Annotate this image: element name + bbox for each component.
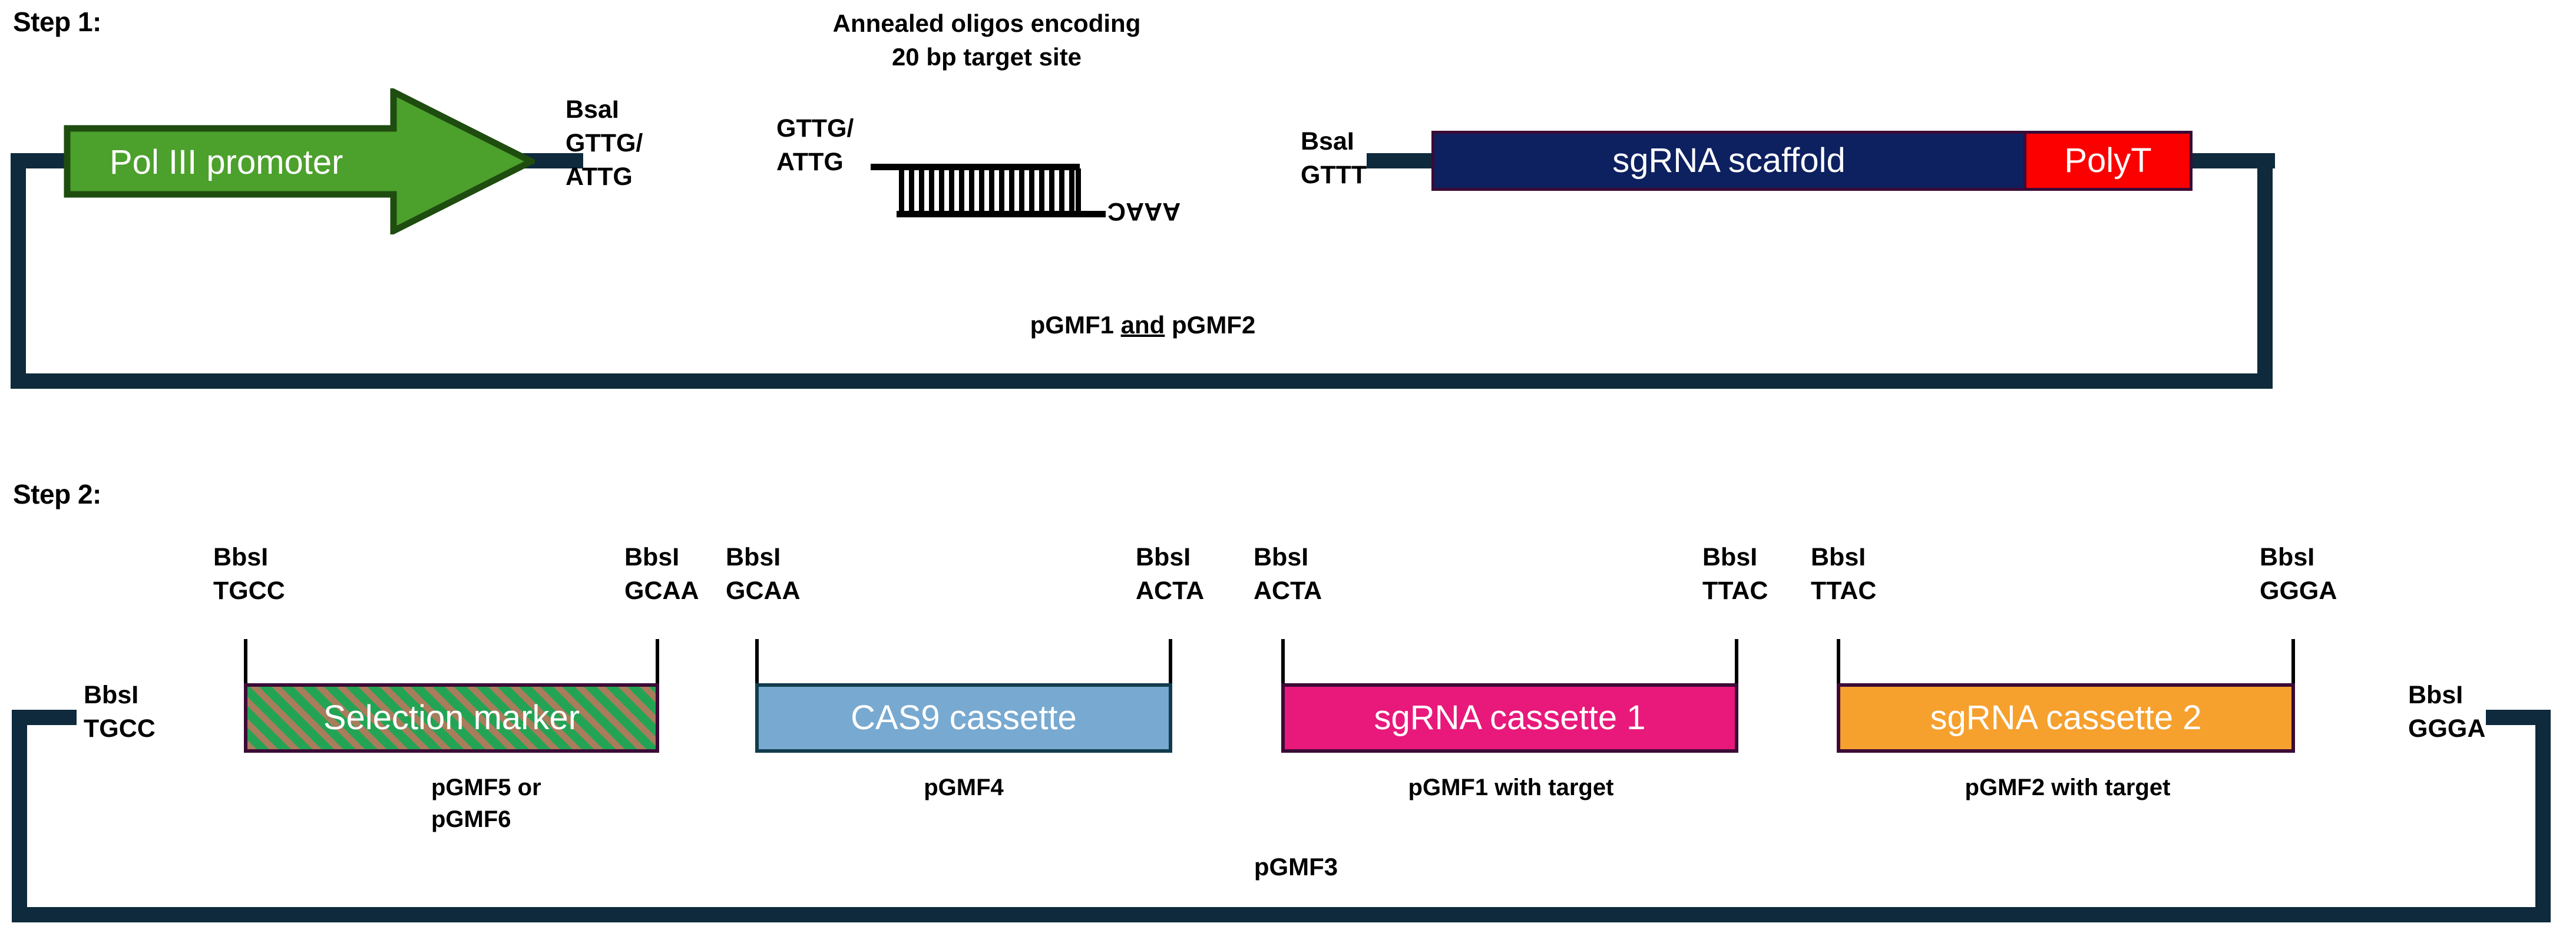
bsai-gttg-attg-site: BsaI GTTG/ ATTG [566, 93, 643, 193]
step1-backbone-right [2257, 159, 2273, 389]
step1-plasmid-name: pGMF1 and pGMF2 [907, 311, 1378, 339]
step1-plasmid-name-pre: pGMF1 [1030, 311, 1121, 339]
oligo-right-overhang: AAAC [1107, 197, 1180, 226]
sgrna-cassette-2-left-site: BbsI TTAC [1811, 541, 1876, 608]
step2-left-bbsi-site: BbsI TGCC [84, 679, 156, 746]
step-2-label: Step 2: [13, 478, 101, 510]
sgrna-cassette-1-label: sgRNA cassette 1 [1374, 701, 1646, 735]
bsai-gttt-site: BsaI GTTT [1301, 125, 1367, 192]
selection-marker-label: Selection marker [323, 701, 580, 735]
step1-backbone-bottom [11, 373, 2273, 389]
step2-backbone-left-stub [12, 710, 77, 725]
sgrna-cassette-1-caption: pGMF1 with target [1387, 772, 1635, 803]
cas9-cassette-caption: pGMF4 [846, 772, 1082, 803]
cas9-cassette-left-site: BbsI GCAA [726, 541, 801, 608]
step-1-label: Step 1: [13, 6, 101, 38]
step2-plasmid-name: pGMF3 [1178, 853, 1414, 881]
selection-marker-box[interactable]: Selection marker [244, 683, 659, 753]
cas9-cassette-box[interactable]: CAS9 cassette [755, 683, 1172, 753]
polyt-label: PolyT [2064, 144, 2151, 178]
annealed-oligos-title: Annealed oligos encoding 20 bp target si… [813, 7, 1160, 74]
step2-backbone-bottom [12, 907, 2551, 922]
cas9-cassette-label: CAS9 cassette [851, 701, 1077, 735]
selection-marker-left-site: BbsI TGCC [213, 541, 285, 608]
sgrna-cassette-1-left-site: BbsI ACTA [1254, 541, 1322, 608]
sgrna-cassette-1-box[interactable]: sgRNA cassette 1 [1281, 683, 1738, 753]
step2-backbone-right [2535, 710, 2551, 922]
step1-stub-after-polyt [2193, 153, 2275, 168]
pol3-promoter-arrow[interactable]: Pol III promoter [64, 88, 535, 234]
sgrna-cassette-1-right-site: BbsI TTAC [1702, 541, 1768, 608]
polyt-box[interactable]: PolyT [2026, 131, 2193, 191]
sgrna-cassette-2-box[interactable]: sgRNA cassette 2 [1837, 683, 2295, 753]
step1-backbone-left [11, 153, 26, 389]
step1-plasmid-name-post: pGMF2 [1165, 311, 1255, 339]
cas9-cassette-right-site: BbsI ACTA [1136, 541, 1204, 608]
sgrna-cassette-2-right-site: BbsI GGGA [2260, 541, 2337, 608]
selection-marker-caption: pGMF5 or pGMF6 [431, 772, 541, 835]
selection-marker-right-site: BbsI GCAA [624, 541, 699, 608]
step1-plasmid-name-and: and [1121, 311, 1165, 339]
sgrna-cassette-2-caption: pGMF2 with target [1944, 772, 2191, 803]
sgrna-scaffold-box[interactable]: sgRNA scaffold [1431, 131, 2026, 191]
step2-right-bbsi-site: BbsI GGGA [2408, 679, 2485, 746]
sgrna-cassette-2-label: sgRNA cassette 2 [1930, 701, 2202, 735]
step2-backbone-left [12, 710, 27, 922]
oligo-left-overhang: GTTG/ ATTG [776, 112, 854, 179]
pol3-promoter-label: Pol III promoter [110, 143, 343, 182]
step1-stub-before-scaffold [1367, 153, 1431, 168]
sgrna-scaffold-label: sgRNA scaffold [1612, 144, 1845, 178]
step2-backbone-right-stub [2486, 710, 2551, 725]
